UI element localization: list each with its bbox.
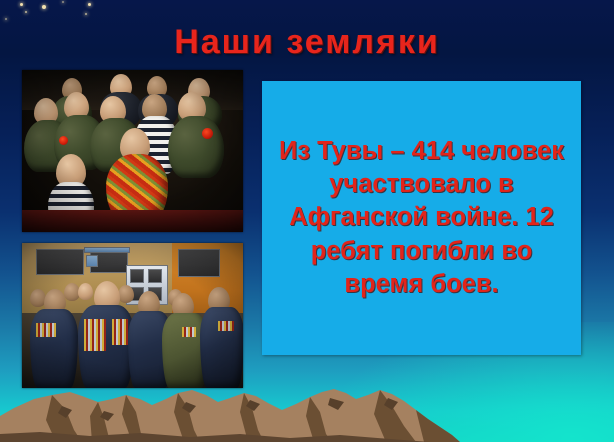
star-icon (25, 11, 27, 13)
star-icon (62, 1, 64, 3)
star-icon (85, 13, 87, 15)
photo-officers-vignette (22, 243, 243, 388)
slide-text-box: Из Тувы – 414 человек участвовало в Афга… (262, 81, 581, 355)
photo-audience (22, 70, 243, 232)
slide-title: Наши земляки (0, 23, 614, 62)
photo-officers (22, 243, 243, 388)
mountain-silhouette (0, 386, 614, 442)
star-icon (42, 5, 46, 9)
star-icon (88, 3, 91, 6)
photo-audience-vignette (22, 70, 243, 232)
presentation-slide: Наши земляки (0, 0, 614, 442)
star-icon (5, 18, 7, 20)
slide-body-text: Из Тувы – 414 человек участвовало в Афга… (262, 135, 581, 301)
star-icon (20, 3, 23, 6)
